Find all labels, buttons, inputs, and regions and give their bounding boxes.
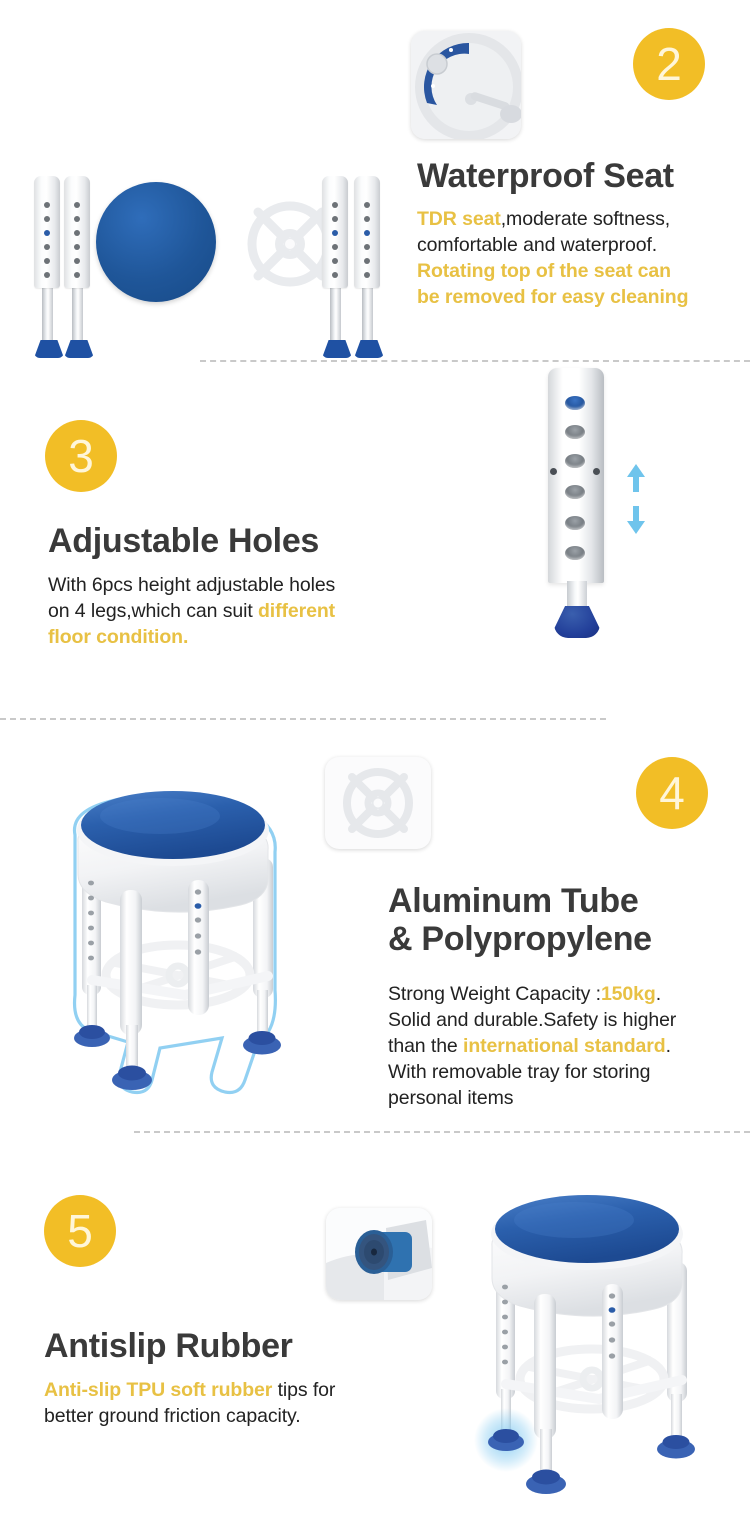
exploded-parts-illustration bbox=[20, 168, 400, 328]
leg-inner-shaft bbox=[330, 288, 341, 340]
shower-stool-glowing-foot-illustration bbox=[458, 1182, 750, 1502]
leg-upper-tube bbox=[64, 176, 90, 288]
tray-wheel-icon bbox=[325, 757, 431, 849]
body-aluminum-tube: Strong Weight Capacity :150kg. Solid and… bbox=[388, 982, 728, 1112]
leg-rubber-foot bbox=[554, 606, 600, 638]
exploded-leg-3 bbox=[322, 176, 348, 358]
heading-adjustable-holes: Adjustable Holes bbox=[48, 522, 448, 560]
seat-underside-thumbnail bbox=[411, 31, 521, 139]
leg-hole-2 bbox=[565, 425, 585, 439]
removable-tray-thumbnail bbox=[325, 757, 431, 849]
leg-rubber-foot bbox=[354, 340, 384, 358]
body-antislip-rubber: Anti-slip TPU soft rubber tips for bette… bbox=[44, 1378, 404, 1430]
heading-aluminum-tube: Aluminum Tube & Polypropylene bbox=[388, 882, 738, 958]
badge-number-4: 4 bbox=[636, 757, 708, 829]
rubber-tip-closeup-thumbnail bbox=[326, 1208, 432, 1300]
body-waterproof-seat: TDR seat,moderate softness, comfortable … bbox=[417, 207, 750, 311]
shower-stool-outlined-illustration bbox=[40, 780, 340, 1100]
body-run-highlight: Anti-slip TPU soft rubber bbox=[44, 1379, 272, 1401]
section-divider-1 bbox=[200, 360, 750, 362]
leg-rubber-foot bbox=[34, 340, 64, 358]
leg-hole-1 bbox=[565, 396, 585, 410]
body-run-highlight-capacity: 150kg bbox=[601, 983, 656, 1005]
leg-hole-6 bbox=[565, 546, 585, 560]
exploded-leg-4 bbox=[354, 176, 380, 358]
section-divider-2 bbox=[0, 718, 606, 720]
leg-rubber-foot bbox=[64, 340, 94, 358]
rubber-tip-icon bbox=[326, 1208, 432, 1300]
seat-disc bbox=[96, 182, 216, 302]
section-divider-3 bbox=[134, 1131, 750, 1133]
leg-rivet-right bbox=[593, 468, 600, 475]
badge-number-5: 5 bbox=[44, 1195, 116, 1267]
heading-antislip-rubber: Antislip Rubber bbox=[44, 1327, 424, 1365]
exploded-leg-1 bbox=[34, 176, 60, 358]
shower-stool-icon bbox=[458, 1182, 750, 1502]
leg-upper-tube bbox=[34, 176, 60, 288]
seat-underside-icon bbox=[411, 31, 521, 139]
leg-rubber-foot bbox=[322, 340, 352, 358]
leg-hole-4 bbox=[565, 485, 585, 499]
heading-waterproof-seat: Waterproof Seat bbox=[417, 157, 747, 195]
leg-upper-tube bbox=[322, 176, 348, 288]
badge-number-2: 2 bbox=[633, 28, 705, 100]
badge-number-3: 3 bbox=[45, 420, 117, 492]
body-run-highlight: TDR seat bbox=[417, 208, 501, 230]
shower-stool-icon bbox=[40, 780, 340, 1100]
body-run-highlight-standard: international standard bbox=[463, 1035, 666, 1057]
leg-inner-shaft bbox=[72, 288, 83, 340]
up-down-arrow-icon bbox=[620, 464, 652, 534]
body-run-highlight-2: Rotating top of the seat can be removed … bbox=[417, 260, 688, 308]
leg-hole-3 bbox=[565, 454, 585, 468]
leg-inner-shaft bbox=[42, 288, 53, 340]
leg-inner-shaft bbox=[362, 288, 373, 340]
leg-upper-tube bbox=[354, 176, 380, 288]
body-adjustable-holes: With 6pcs height adjustable holes on 4 l… bbox=[48, 573, 418, 651]
leg-rivet-left bbox=[550, 468, 557, 475]
product-infographic-page: 2 Waterproof Seat TDR seat,moderate soft… bbox=[0, 0, 750, 1527]
leg-hole-5 bbox=[565, 516, 585, 530]
adjustable-leg-closeup bbox=[548, 368, 668, 668]
height-adjust-arrows bbox=[620, 464, 652, 539]
exploded-leg-2 bbox=[64, 176, 90, 358]
body-run-plain: Strong Weight Capacity : bbox=[388, 983, 601, 1005]
